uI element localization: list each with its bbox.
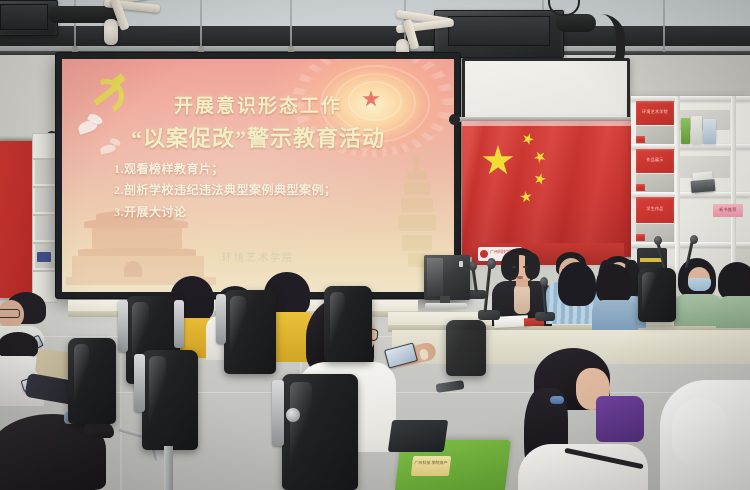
ceiling-fan-left (104, 0, 184, 36)
slide-item-3: 3.开展大讨论 (114, 203, 187, 220)
chair-post (164, 446, 173, 490)
microphone-head (540, 277, 548, 287)
student-figure (718, 262, 750, 324)
hang-rod (290, 0, 292, 48)
flag-pole-end-cap (449, 114, 460, 125)
chair-highlight (290, 382, 312, 478)
student-figure (676, 258, 720, 324)
eyeglasses-icon (0, 309, 20, 318)
laptop-sticker-text: 广州科技 学院资产 (412, 460, 451, 466)
student-figure (552, 262, 602, 318)
flag-hem (462, 121, 632, 126)
student-figure-white-shirt (660, 380, 750, 490)
book (681, 118, 690, 144)
chinese-national-flag (462, 121, 632, 257)
presentation-slide: 开展意识形态工作 “以案促改”警示教育活动 1.观看榜样教育片； 2.剖析学校违… (62, 59, 454, 292)
face-mask (688, 278, 711, 291)
flag-large-star (482, 145, 514, 177)
chair-highlight (330, 292, 345, 356)
shelf-small-tab (636, 234, 645, 241)
speaker-eye (512, 266, 516, 268)
microphone-head (654, 236, 662, 245)
shelf-small-tab (636, 136, 645, 143)
slide-item-2: 2.剖析学校违纪违法典型案例典型案例； (114, 181, 337, 198)
chair-highlight (642, 272, 656, 316)
chair-highlight (74, 344, 89, 416)
book (703, 119, 716, 144)
chair-arm (272, 380, 284, 446)
microphone-head (469, 261, 477, 271)
chair-arm (216, 294, 226, 344)
shelf-tag-text: 新书推荐 (713, 207, 743, 213)
microphone-head (487, 258, 496, 269)
monitor-stand-base (425, 303, 467, 309)
laptop-asset-sticker (411, 456, 451, 476)
ac-vent (0, 4, 48, 30)
left-shelf-unit (32, 133, 58, 303)
chair-arm (118, 300, 128, 352)
microphone-head (690, 235, 698, 244)
hang-rod (663, 0, 665, 52)
book (691, 179, 716, 193)
monitor-led-icon (459, 261, 463, 267)
chair-arm (134, 354, 145, 412)
chair-arm (174, 300, 184, 348)
shoe (84, 422, 114, 438)
hair-tie (550, 396, 564, 404)
microphone-base (478, 310, 500, 320)
chair-highlight (149, 356, 166, 440)
hang-rod (200, 0, 202, 48)
shelf-label-text: 作品展示 (636, 157, 674, 163)
shelf-label-text: 环境艺术学院 (636, 109, 674, 115)
flag-small-star (533, 172, 548, 187)
flag-small-star (532, 149, 549, 166)
shelf-blue-object (37, 252, 51, 262)
chair-arm-joint (286, 408, 300, 422)
slide-title-line2: “以案促改”警示教育活动 (62, 121, 454, 153)
speaker-eye (523, 266, 527, 268)
slide-item-1: 1.观看榜样教育片； (114, 160, 224, 177)
flag-small-star (520, 131, 536, 147)
classroom-photo: 开展意识形态工作 “以案促改”警示教育活动 1.观看榜样教育片； 2.剖析学校违… (0, 0, 750, 490)
shelf-small-tab (636, 184, 645, 191)
speaker-inner-top (514, 284, 530, 314)
projection-screen: 开展意识形态工作 “以案促改”警示教育活动 1.观看榜样教育片； 2.剖析学校违… (56, 53, 460, 298)
flag-small-star (519, 190, 533, 204)
speaker-neck (516, 279, 528, 287)
chair-highlight (230, 296, 246, 366)
office-chair-back (446, 320, 486, 376)
slide-footer: 环境艺术学院 (62, 249, 454, 264)
purple-bag (596, 396, 644, 442)
logo-mark-icon (480, 250, 488, 258)
ceiling-fan-right (396, 14, 476, 58)
book (691, 116, 702, 144)
laptop-dark-interior (388, 420, 448, 452)
shelf-label-text: 学生作品 (636, 206, 674, 212)
slide-title-line1: 开展意识形态工作 (62, 91, 454, 118)
slide-text-block: 开展意识形态工作 “以案促改”警示教育活动 1.观看榜样教育片； 2.剖析学校违… (62, 59, 454, 292)
monitor-sheen (427, 258, 443, 296)
